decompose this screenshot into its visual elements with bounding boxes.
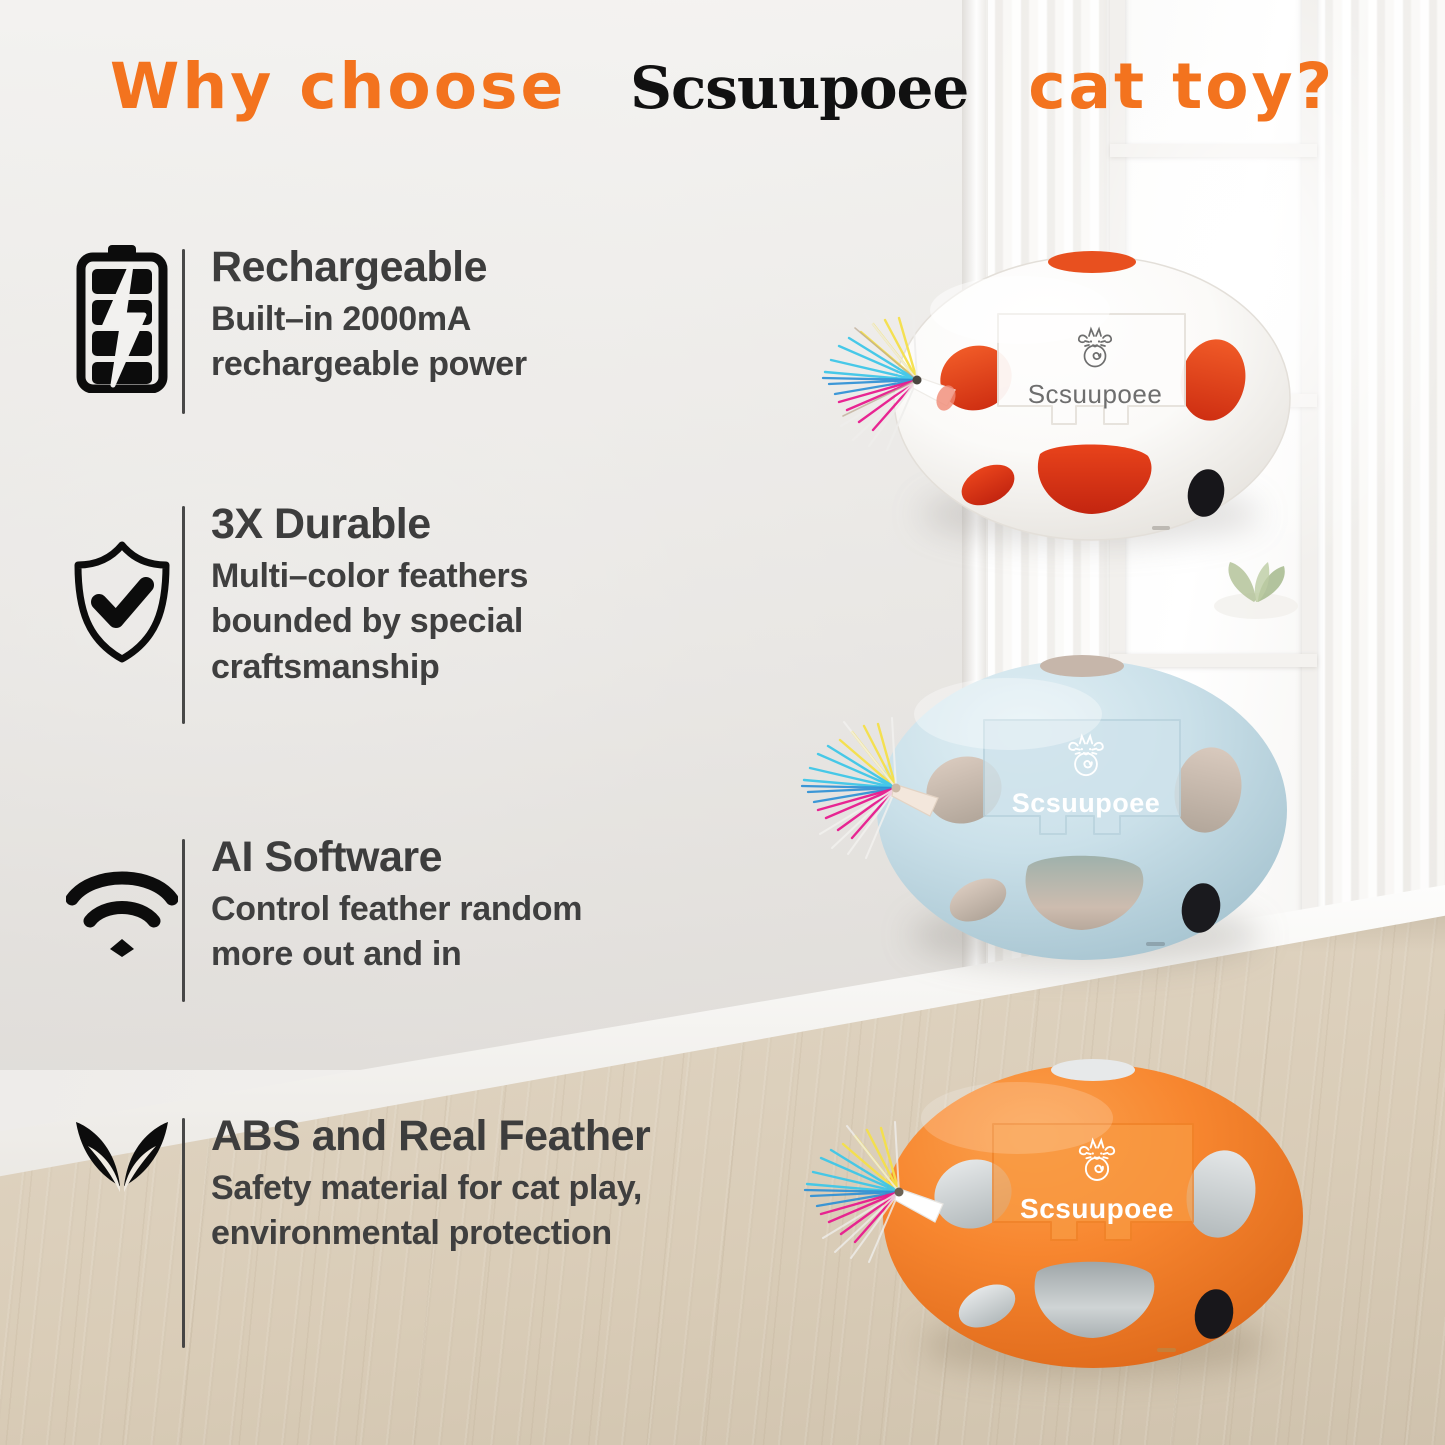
feature-description: Built–in 2000mA rechargeable power	[211, 297, 631, 387]
feature-divider	[182, 839, 185, 1002]
cat-logo-icon	[1069, 325, 1121, 375]
headline-part-1: Why choose	[110, 50, 566, 123]
white-toy-brand-text: Scsuupoee	[1028, 379, 1163, 410]
white-toy-logo: Scsuupoee	[1020, 324, 1170, 410]
product-orange-toy: Scsuupoee	[865, 1052, 1315, 1400]
leaf-sprout-icon-wrap	[62, 1112, 182, 1242]
battery-icon	[74, 243, 170, 393]
battery-icon-wrap	[62, 243, 182, 393]
feature-rechargeable: Rechargeable Built–in 2000mA rechargeabl…	[62, 243, 631, 420]
orange-toy-feather	[773, 1114, 983, 1284]
infographic-canvas: Why choose Scsuupoee cat toy? Rechargeab…	[0, 0, 1445, 1445]
feature-title: AI Software	[211, 833, 671, 881]
feature-title: 3X Durable	[211, 500, 631, 548]
feature-divider	[182, 1118, 185, 1348]
cat-logo-icon	[1059, 732, 1113, 784]
feature-description: Control feather random more out and in	[211, 887, 671, 977]
feature-title: Rechargeable	[211, 243, 631, 291]
feature-divider	[182, 249, 185, 414]
feature-description: Safety material for cat play, environmen…	[211, 1166, 661, 1256]
shield-check-icon-wrap	[62, 500, 182, 664]
headline-brand: Scsuupoee	[630, 54, 968, 122]
cat-logo-icon	[1069, 1136, 1125, 1189]
feature-ai-software: AI Software Control feather random more …	[62, 833, 671, 1008]
feature-text: AI Software Control feather random more …	[211, 833, 671, 978]
orange-toy-logo: Scsuupoee	[1019, 1134, 1175, 1226]
white-toy-feather	[795, 306, 995, 466]
shield-check-icon	[70, 540, 174, 664]
feature-divider	[182, 506, 185, 724]
product-white-toy: Scsuupoee	[880, 248, 1300, 568]
feature-description: Multi–color feathers bounded by special …	[211, 554, 631, 690]
orange-toy-brand-text: Scsuupoee	[1020, 1193, 1174, 1225]
feature-title: ABS and Real Feather	[211, 1112, 661, 1160]
headline-part-2: cat toy?	[1028, 50, 1335, 123]
feature-durable: 3X Durable Multi–color feathers bounded …	[62, 500, 631, 730]
feature-text: 3X Durable Multi–color feathers bounded …	[211, 500, 631, 690]
blue-toy-brand-text: Scsuupoee	[1012, 788, 1161, 819]
feature-text: Rechargeable Built–in 2000mA rechargeabl…	[211, 243, 631, 388]
feature-text: ABS and Real Feather Safety material for…	[211, 1112, 661, 1257]
leaf-sprout-icon	[66, 1112, 178, 1202]
wifi-signal-icon-wrap	[62, 833, 182, 957]
blue-toy-logo: Scsuupoee	[1010, 730, 1162, 820]
wifi-signal-icon	[66, 861, 178, 957]
product-blue-toy: Scsuupoee	[860, 650, 1300, 990]
blue-toy-feather	[770, 710, 980, 880]
page-headline: Why choose Scsuupoee cat toy?	[0, 52, 1445, 121]
feature-abs-real-feather: ABS and Real Feather Safety material for…	[62, 1112, 661, 1354]
